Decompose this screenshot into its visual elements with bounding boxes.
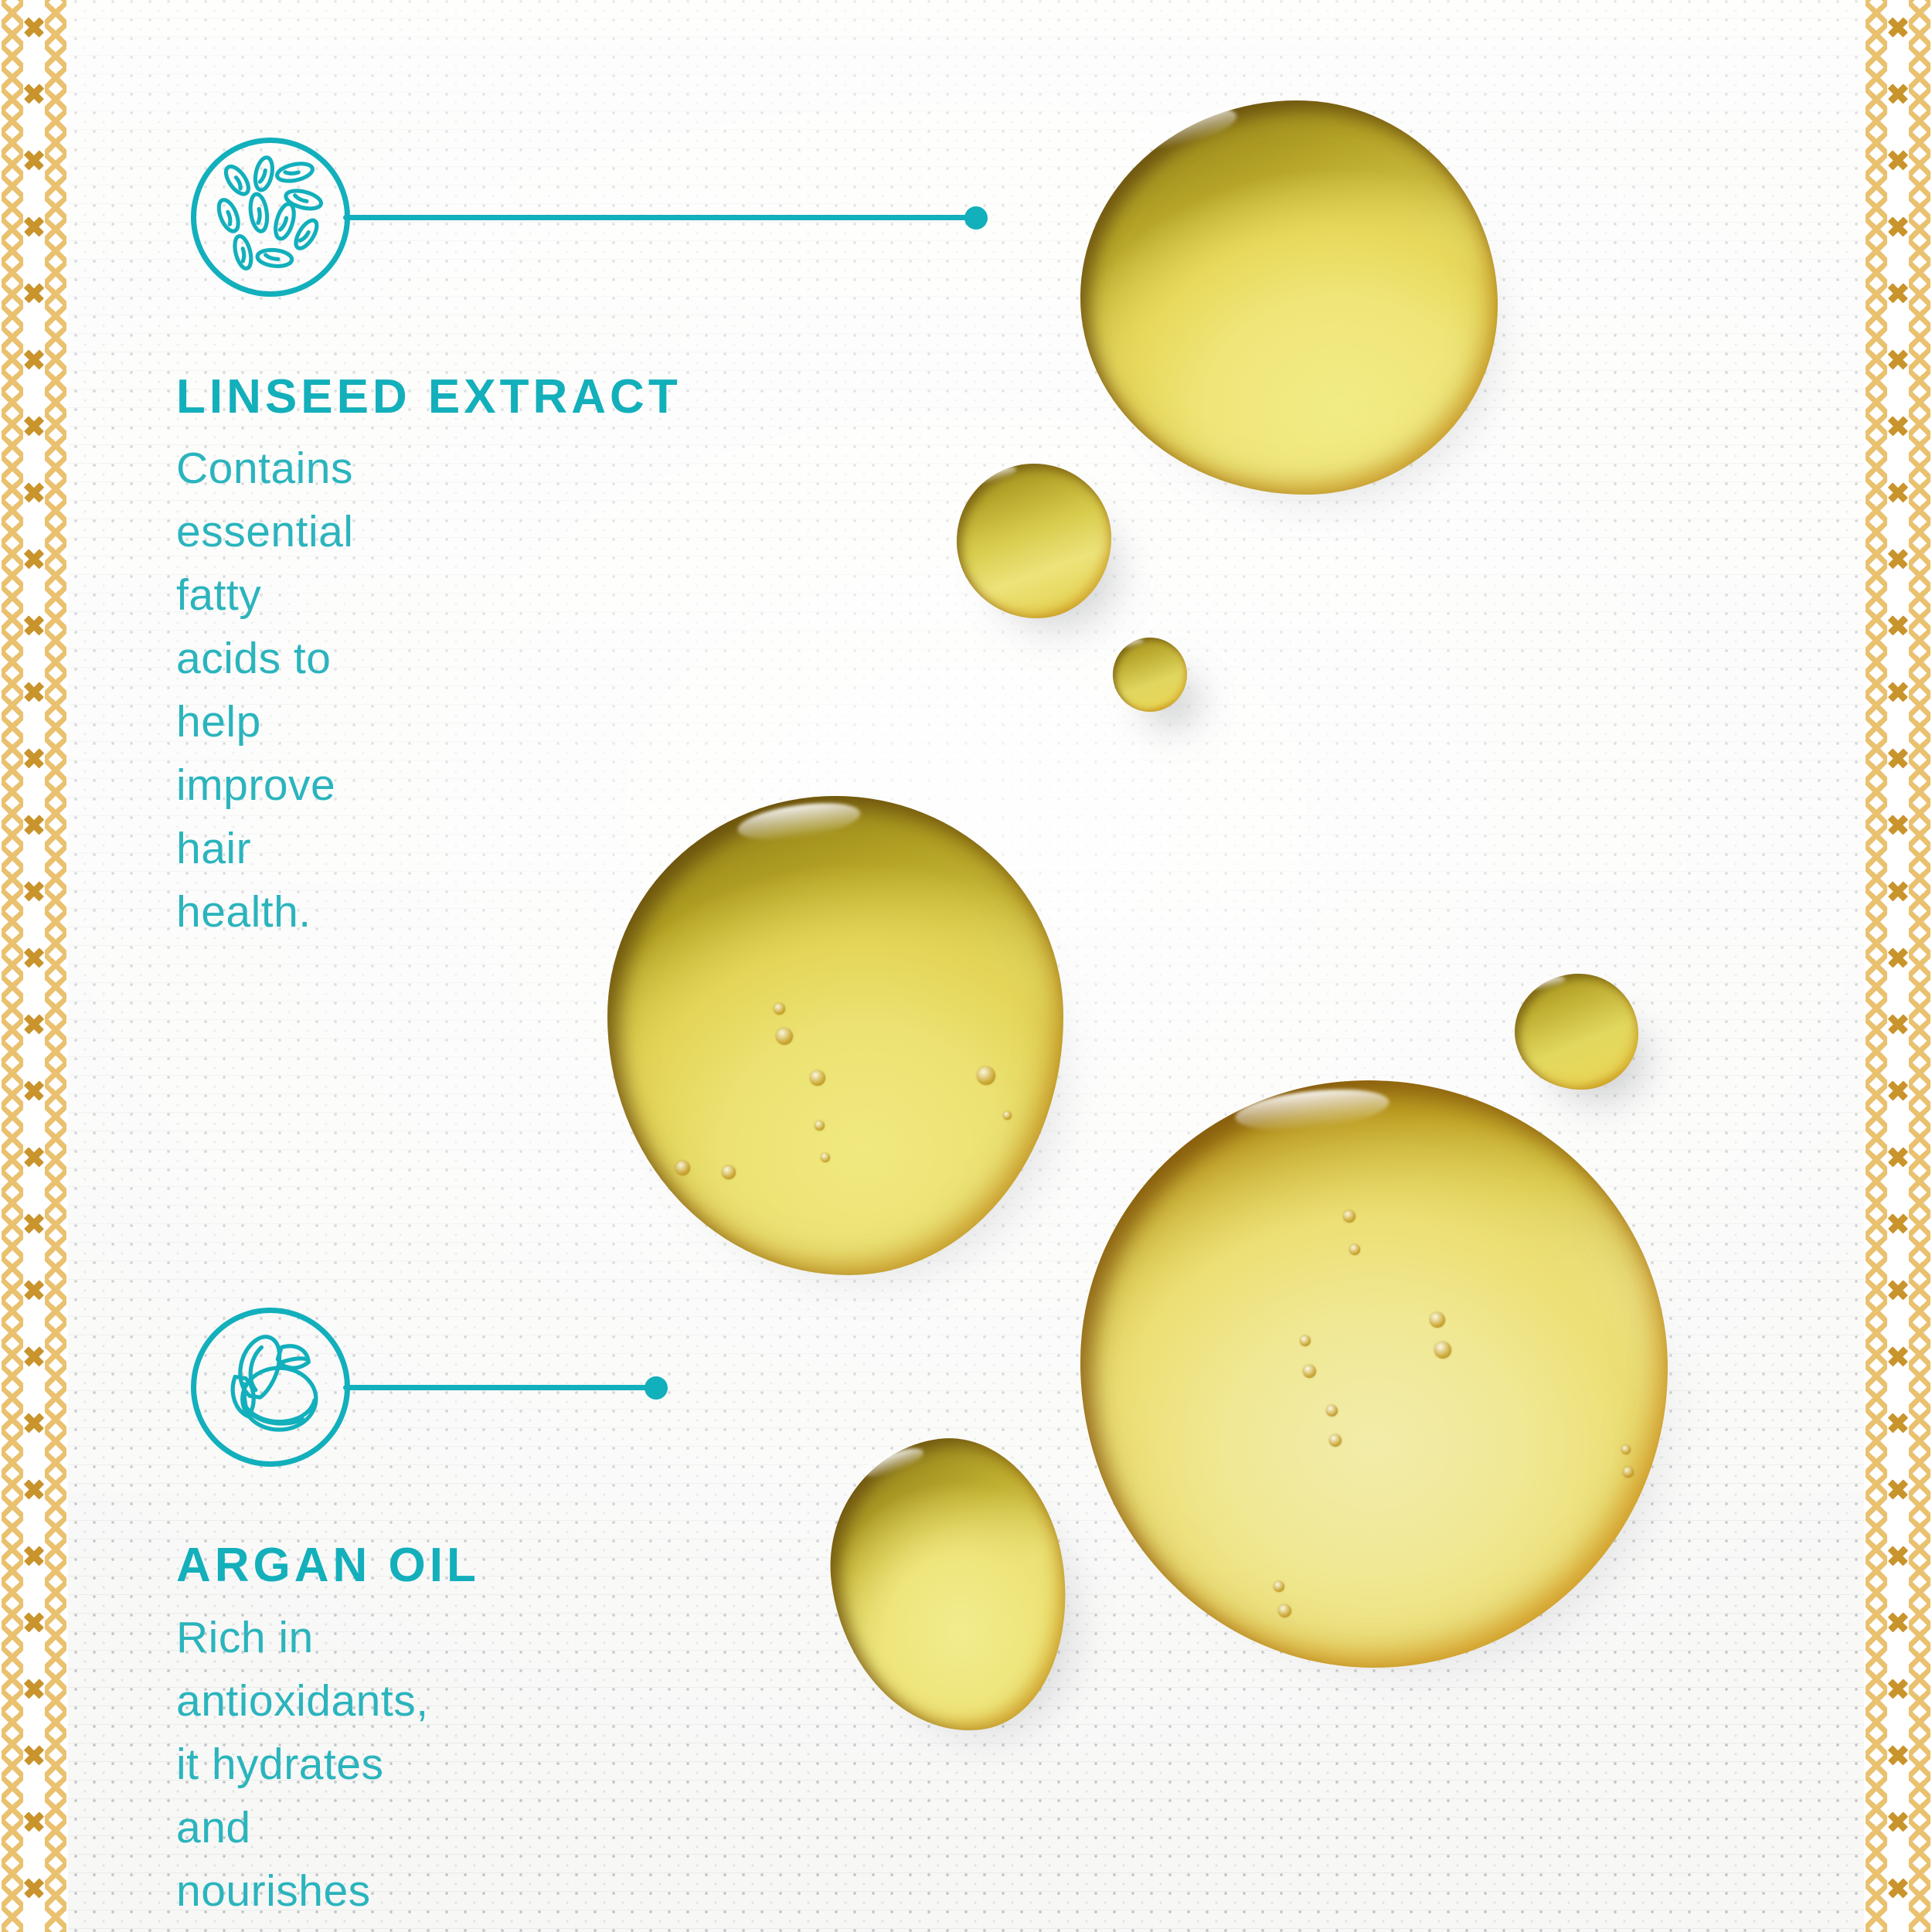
connector-line-linseed [343, 215, 977, 220]
border-cross-icon [24, 416, 44, 436]
connector-endpoint-dot-linseed [964, 206, 988, 230]
air-bubble [1303, 1365, 1316, 1378]
border-cross-icon [1888, 881, 1908, 901]
border-cross-icon [24, 1811, 44, 1832]
droplet-rim [957, 464, 1111, 618]
border-cross-column-right [1888, 0, 1908, 1932]
border-cross-icon [24, 947, 44, 968]
border-cross-icon [1888, 549, 1908, 569]
border-cross-icon [24, 1147, 44, 1167]
border-cross-icon [24, 549, 44, 569]
decorative-border-left [0, 0, 68, 1932]
border-cross-icon [1888, 1213, 1908, 1233]
large-oil-droplet-top-right [1080, 100, 1498, 495]
border-cross-icon [1888, 682, 1908, 702]
desc-line: Rich in antioxidants, [176, 1606, 429, 1733]
border-cross-icon [1888, 482, 1908, 502]
border-cross-icon [24, 615, 44, 635]
infographic-canvas: LINSEED EXTRACT Contains essential fatty… [0, 0, 1932, 1932]
border-cross-icon [24, 1280, 44, 1300]
connector-endpoint-dot-argan [645, 1376, 668, 1400]
droplet-rim [1080, 1080, 1668, 1668]
border-cross-icon [1888, 1147, 1908, 1167]
border-cross-icon [1888, 283, 1908, 303]
border-cross-icon [24, 482, 44, 502]
largest-oil-droplet-bottom-right [1080, 1080, 1668, 1668]
border-cross-icon [24, 1080, 44, 1100]
air-bubble [1326, 1405, 1338, 1417]
border-cross-icon [24, 748, 44, 768]
air-bubble [722, 1165, 736, 1179]
air-bubble [1274, 1581, 1284, 1592]
border-cross-icon [24, 1346, 44, 1366]
large-oil-droplet-center [607, 796, 1063, 1275]
air-bubble [1349, 1244, 1360, 1255]
border-cross-icon [1888, 1479, 1908, 1499]
border-cross-icon [24, 216, 44, 236]
desc-line: acids to help improve [176, 627, 353, 817]
border-cross-icon [1888, 17, 1908, 37]
border-cross-icon [1888, 1745, 1908, 1765]
air-bubble [1623, 1467, 1634, 1478]
border-cross-icon [24, 349, 44, 369]
border-cross-icon [24, 1413, 44, 1433]
border-lattice-icon [2, 0, 23, 1932]
air-bubble [776, 1028, 793, 1045]
border-lattice-icon [45, 0, 66, 1932]
border-cross-icon [24, 1878, 44, 1898]
border-cross-icon [1888, 416, 1908, 436]
border-cross-icon [1888, 150, 1908, 170]
air-bubble [1278, 1604, 1291, 1617]
small-oil-droplet-right [1515, 974, 1638, 1090]
air-bubble [1343, 1210, 1355, 1223]
border-cross-icon [24, 150, 44, 170]
air-bubble [1434, 1342, 1451, 1359]
small-oil-droplet [1113, 638, 1187, 712]
border-cross-icon [1888, 615, 1908, 635]
air-bubble [675, 1161, 690, 1175]
ingredient-description-argan: Rich in antioxidants, it hydrates and no… [176, 1606, 429, 1932]
border-lattice-icon [1866, 0, 1887, 1932]
desc-line: it hydrates and [176, 1733, 429, 1859]
border-cross-icon [24, 1612, 44, 1632]
border-cross-icon [24, 1479, 44, 1499]
border-cross-icon [24, 682, 44, 702]
border-cross-icon [1888, 815, 1908, 835]
border-cross-icon [24, 1679, 44, 1699]
border-cross-icon [1888, 216, 1908, 236]
droplet-rim [1113, 638, 1187, 712]
border-cross-icon [1888, 748, 1908, 768]
linseed-seeds-icon [191, 138, 350, 297]
border-cross-icon [24, 17, 44, 37]
desc-line: Contains essential fatty [176, 437, 353, 627]
ingredient-title-argan: ARGAN OIL [176, 1538, 480, 1593]
border-cross-icon [24, 283, 44, 303]
decorative-border-right [1864, 0, 1932, 1932]
border-cross-icon [24, 815, 44, 835]
air-bubble [815, 1121, 825, 1131]
border-cross-icon [1888, 1878, 1908, 1898]
argan-nut-icon [191, 1308, 350, 1467]
border-cross-icon [1888, 1546, 1908, 1566]
air-bubble [1003, 1111, 1012, 1120]
border-cross-icon [1888, 1280, 1908, 1300]
air-bubble [1621, 1445, 1631, 1454]
desc-line: nourishes hair. [176, 1859, 429, 1932]
droplet-rim [1515, 974, 1638, 1090]
border-cross-icon [1888, 349, 1908, 369]
border-cross-icon [1888, 947, 1908, 968]
border-cross-icon [1888, 1679, 1908, 1699]
border-cross-icon [24, 1213, 44, 1233]
air-bubble [821, 1153, 830, 1162]
border-cross-icon [24, 1546, 44, 1566]
border-cross-icon [24, 83, 44, 104]
border-cross-icon [1888, 1612, 1908, 1632]
desc-line: hair health. [176, 817, 353, 944]
ingredient-title-linseed: LINSEED EXTRACT [176, 369, 682, 424]
border-cross-column-left [24, 0, 44, 1932]
border-cross-icon [1888, 1413, 1908, 1433]
border-cross-icon [24, 881, 44, 901]
border-cross-icon [1888, 1014, 1908, 1034]
border-cross-icon [1888, 1080, 1908, 1100]
border-cross-icon [24, 1014, 44, 1034]
border-lattice-icon [1909, 0, 1930, 1932]
air-bubble [774, 1003, 785, 1015]
air-bubble [1300, 1335, 1311, 1346]
border-cross-icon [1888, 83, 1908, 104]
air-bubble [810, 1070, 825, 1086]
air-bubble [1329, 1434, 1342, 1447]
medium-oil-droplet [957, 464, 1111, 618]
air-bubble [977, 1066, 995, 1085]
air-bubble [1430, 1312, 1445, 1328]
border-cross-icon [24, 1745, 44, 1765]
border-cross-icon [1888, 1811, 1908, 1832]
ingredient-description-linseed: Contains essential fatty acids to help i… [176, 437, 353, 944]
connector-line-argan [343, 1385, 655, 1390]
border-cross-icon [1888, 1346, 1908, 1366]
